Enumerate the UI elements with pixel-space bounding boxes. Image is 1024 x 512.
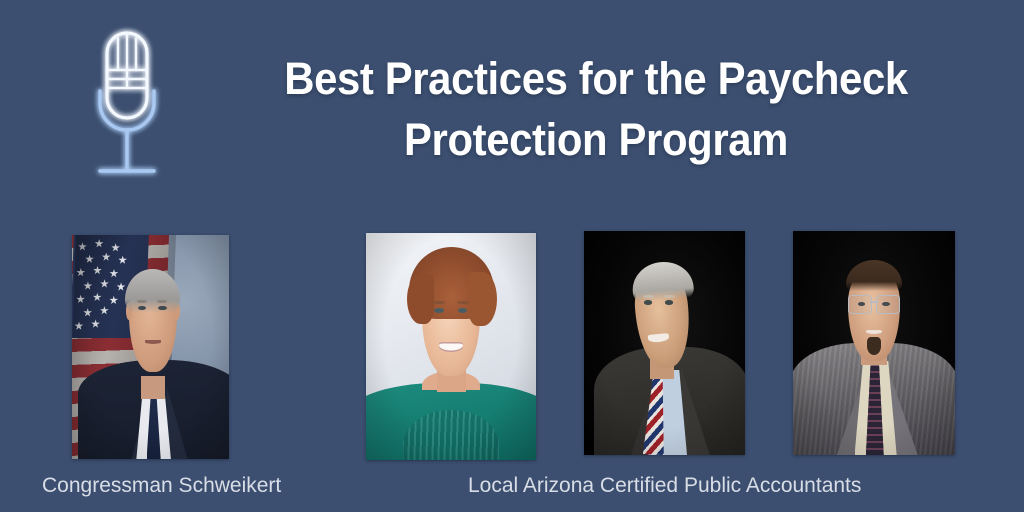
portrait-artwork bbox=[366, 233, 536, 460]
title-line-1: Best Practices for the Paycheck bbox=[224, 48, 968, 109]
speaker-photo-cpa-2 bbox=[584, 231, 745, 455]
caption-accountants: Local Arizona Certified Public Accountan… bbox=[468, 475, 861, 496]
caption-congressman: Congressman Schweikert bbox=[42, 475, 281, 496]
portrait-artwork bbox=[584, 231, 745, 455]
speaker-photo-cpa-1 bbox=[366, 233, 536, 460]
speaker-photo-cpa-3 bbox=[793, 231, 955, 455]
portrait-artwork bbox=[793, 231, 955, 455]
page-title: Best Practices for the Paycheck Protecti… bbox=[224, 48, 968, 170]
title-line-2: Protection Program bbox=[224, 109, 968, 170]
microphone-icon bbox=[62, 18, 192, 193]
eyeglasses-icon bbox=[846, 295, 901, 312]
promo-graphic: Best Practices for the Paycheck Protecti… bbox=[0, 0, 1024, 512]
portrait-artwork bbox=[72, 235, 229, 459]
speaker-photo-schweikert bbox=[72, 235, 229, 459]
